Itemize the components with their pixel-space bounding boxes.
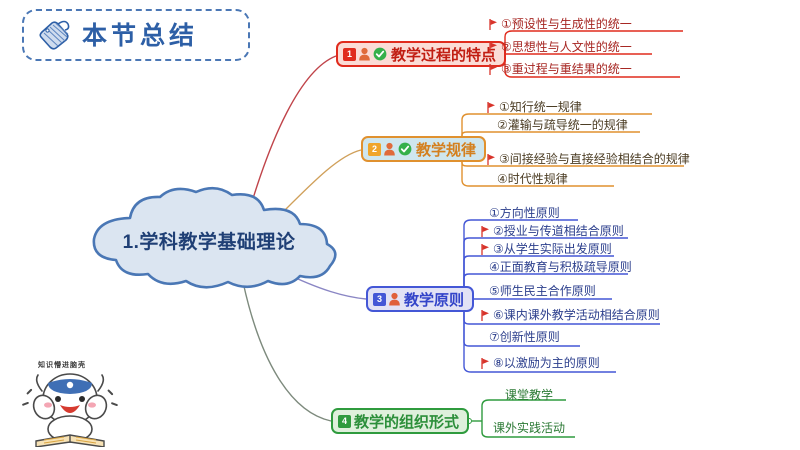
leaf-label: ③重过程与重结果的统一 [501, 62, 632, 76]
leaf-label: ⑥课内课外教学活动相结合原则 [493, 308, 660, 322]
branch-index-badge-4: 4 [338, 415, 351, 428]
section-summary-stamp: 本节总结 [22, 9, 250, 61]
leaf-item[interactable]: ⑥课内课外教学活动相结合原则 [481, 308, 660, 322]
central-topic-label: 1.学科教学基础理论 [68, 186, 350, 294]
flag-icon [481, 358, 490, 369]
branch-node-1-label: 教学过程的特点 [391, 44, 496, 65]
leaf-label: 课外实践活动 [493, 421, 565, 435]
flag-icon [481, 310, 490, 321]
branch-index-badge-2: 2 [368, 143, 381, 156]
mindmap-canvas: 本节总结 1.学科教学基础理论 知识懵进脑壳 [0, 0, 800, 450]
leaf-item[interactable]: ⑧以激励为主的原则 [481, 356, 600, 370]
leaf-label: ②思想性与人文性的统一 [501, 40, 632, 54]
person-icon [383, 142, 396, 156]
flag-icon [487, 154, 496, 165]
leaf-item[interactable]: 课外实践活动 [493, 421, 565, 435]
flag-icon [481, 244, 490, 255]
check-circle-icon [398, 142, 412, 156]
leaf-item[interactable]: ③重过程与重结果的统一 [489, 62, 632, 76]
leaf-label: ①预设性与生成性的统一 [501, 17, 632, 31]
flag-icon [481, 226, 490, 237]
person-icon [358, 47, 371, 61]
tag-icon [36, 18, 76, 52]
branch-node-4-label: 教学的组织形式 [354, 411, 459, 432]
page-title: 本节总结 [82, 23, 198, 48]
branch-node-4[interactable]: 4 教学的组织形式 [331, 408, 469, 434]
leaf-label: ④正面教育与积极疏导原则 [489, 260, 632, 274]
flag-icon [489, 42, 498, 53]
leaf-label: ⑧以激励为主的原则 [493, 356, 600, 370]
person-icon [388, 292, 401, 306]
leaf-item[interactable]: ①知行统一规律 [487, 100, 582, 114]
flag-icon [489, 19, 498, 30]
leaf-label: ②灌输与疏导统一的规律 [497, 118, 628, 132]
branch-node-3-label: 教学原则 [404, 289, 464, 310]
central-topic[interactable]: 1.学科教学基础理论 [68, 186, 350, 294]
branch-index-badge-3: 3 [373, 293, 386, 306]
leaf-label: ⑤师生民主合作原则 [489, 284, 596, 298]
leaf-item[interactable]: ①预设性与生成性的统一 [489, 17, 632, 31]
leaf-label: ②授业与传道相结合原则 [493, 224, 624, 238]
leaf-item[interactable]: ③间接经验与直接经验相结合的规律 [487, 152, 690, 166]
branch-node-2-label: 教学规律 [416, 139, 476, 160]
leaf-item[interactable]: ③从学生实际出发原则 [481, 242, 612, 256]
leaf-item[interactable]: ②灌输与疏导统一的规律 [497, 118, 628, 132]
branch-node-3[interactable]: 3 教学原则 [366, 286, 474, 312]
branch-node-2[interactable]: 2 教学规律 [361, 136, 486, 162]
leaf-item[interactable]: 课堂教学 [505, 388, 553, 402]
leaf-item[interactable]: ⑤师生民主合作原则 [489, 284, 596, 298]
flag-icon [487, 102, 496, 113]
flag-icon [489, 64, 498, 75]
leaf-item[interactable]: ⑦创新性原则 [489, 330, 560, 344]
leaf-item[interactable]: ④正面教育与积极疏导原则 [489, 260, 632, 274]
branch-index-badge-1: 1 [343, 48, 356, 61]
leaf-label: ①知行统一规律 [499, 100, 582, 114]
leaf-label: ①方向性原则 [489, 206, 560, 220]
leaf-label: ③间接经验与直接经验相结合的规律 [499, 152, 690, 166]
leaf-label: ④时代性规律 [497, 172, 568, 186]
leaf-label: ⑦创新性原则 [489, 330, 560, 344]
cartoon-mascot-icon [8, 355, 132, 447]
leaf-item[interactable]: ②思想性与人文性的统一 [489, 40, 632, 54]
leaf-item[interactable]: ④时代性规律 [497, 172, 568, 186]
leaf-label: ③从学生实际出发原则 [493, 242, 612, 256]
leaf-label: 课堂教学 [505, 388, 553, 402]
branch-node-1[interactable]: 1 教学过程的特点 [336, 41, 506, 67]
leaf-item[interactable]: ②授业与传道相结合原则 [481, 224, 624, 238]
check-circle-icon [373, 47, 387, 61]
leaf-item[interactable]: ①方向性原则 [489, 206, 560, 220]
wire-branch-4 [243, 282, 331, 421]
